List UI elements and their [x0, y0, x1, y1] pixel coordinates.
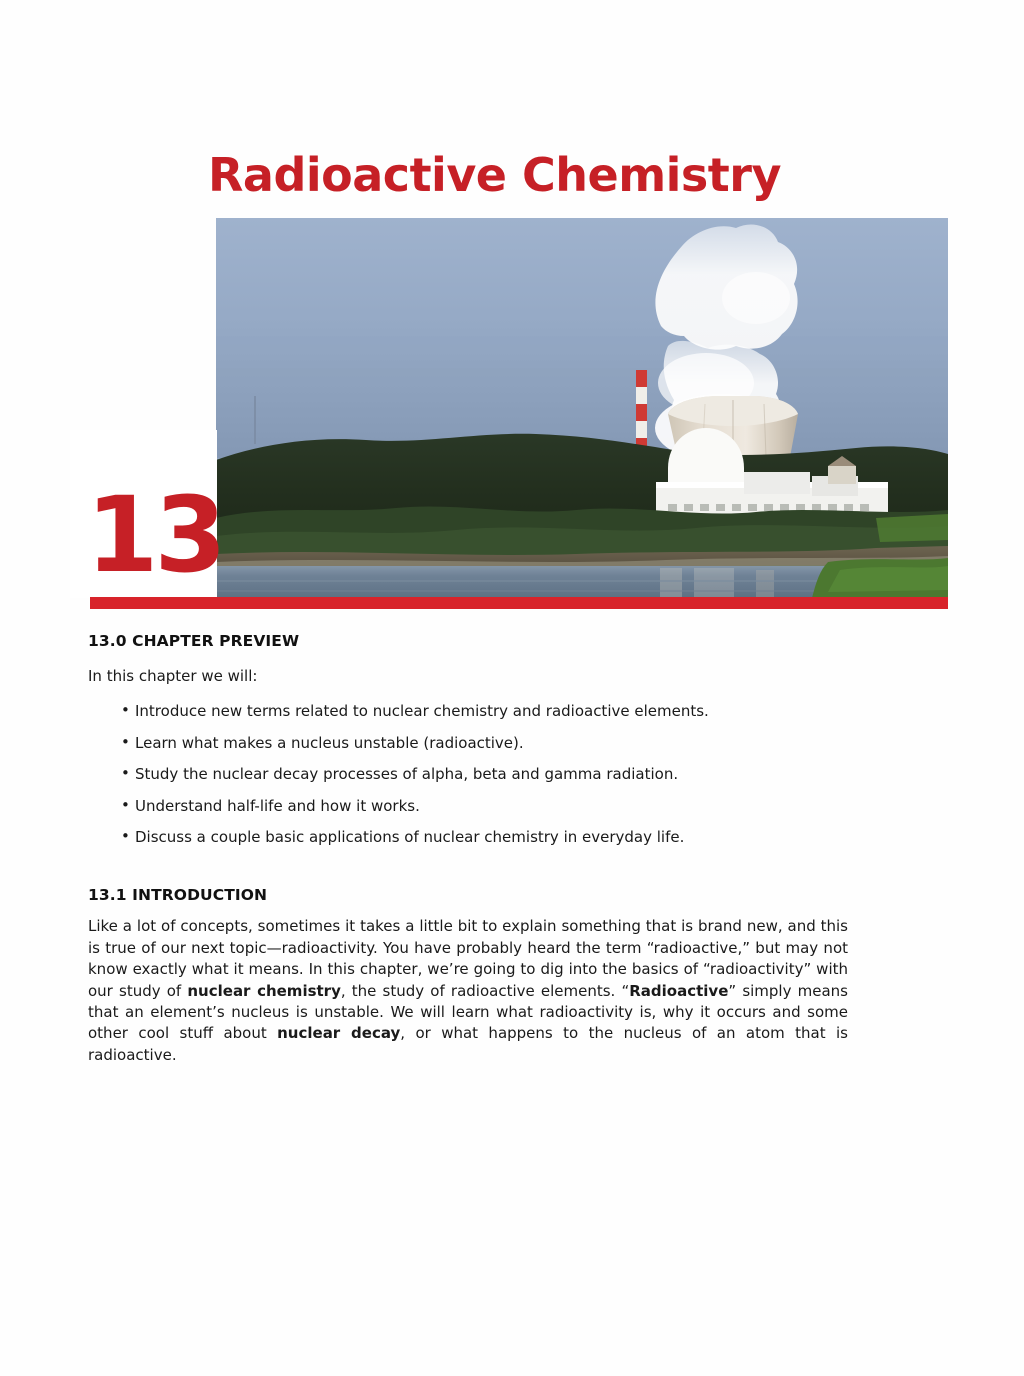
emphasis-term: nuclear decay [277, 1024, 400, 1042]
bullet-icon: • [121, 795, 130, 816]
page-content: 13.0 CHAPTER PREVIEW In this chapter we … [88, 632, 848, 1066]
textbook-page: Radioactive Chemistry [0, 0, 1024, 1376]
list-item-label: Discuss a couple basic applications of n… [135, 828, 684, 846]
list-item: •Study the nuclear decay processes of al… [121, 764, 848, 785]
emphasis-term: Radioactive [629, 982, 728, 1000]
bullet-icon: • [121, 732, 130, 753]
page-title: Radioactive Chemistry [208, 152, 781, 198]
chapter-number: 13 [86, 483, 223, 587]
list-item: •Introduce new terms related to nuclear … [121, 701, 848, 722]
paragraph-run: , the study of radioactive elements. “ [341, 982, 629, 1000]
list-item-label: Learn what makes a nucleus unstable (rad… [135, 734, 524, 752]
chapter-preview-heading: 13.0 CHAPTER PREVIEW [88, 632, 848, 650]
list-item-label: Introduce new terms related to nuclear c… [135, 702, 709, 720]
list-item: •Discuss a couple basic applications of … [121, 827, 848, 848]
emphasis-term: nuclear chemistry [187, 982, 340, 1000]
hero-image [216, 218, 948, 598]
chapter-preview-list: •Introduce new terms related to nuclear … [88, 701, 848, 848]
distant-mast [254, 396, 256, 444]
bullet-icon: • [121, 763, 130, 784]
introduction-heading: 13.1 INTRODUCTION [88, 886, 848, 904]
nuclear-plant-illustration [216, 218, 948, 598]
bullet-icon: • [121, 700, 130, 721]
chapter-preview-lead: In this chapter we will: [88, 666, 848, 687]
list-item: •Understand half-life and how it works. [121, 796, 848, 817]
list-item-label: Study the nuclear decay processes of alp… [135, 765, 678, 783]
accent-rule [90, 597, 948, 609]
bullet-icon: • [121, 826, 130, 847]
list-item-label: Understand half-life and how it works. [135, 797, 420, 815]
list-item: •Learn what makes a nucleus unstable (ra… [121, 733, 848, 754]
introduction-paragraph: Like a lot of concepts, sometimes it tak… [88, 916, 848, 1066]
